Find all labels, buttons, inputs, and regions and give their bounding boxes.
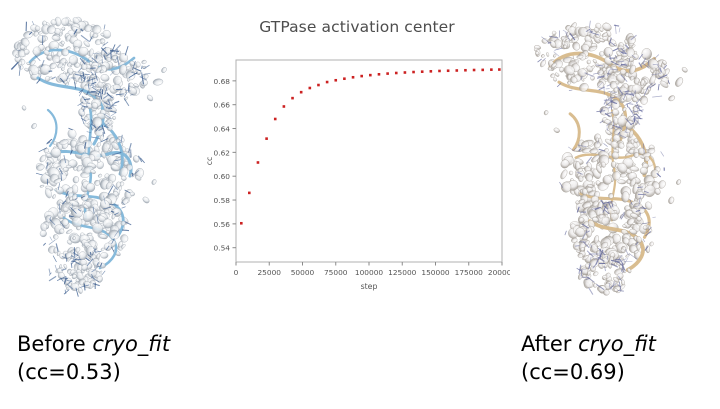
density-blob (62, 27, 66, 31)
density-blob (100, 73, 110, 82)
density-blob (620, 173, 627, 178)
atom-stick (11, 62, 18, 69)
data-point (369, 74, 372, 77)
x-tick-label: 100000 (355, 268, 384, 277)
x-tick-label: 125000 (388, 268, 417, 277)
x-tick-label: 0 (234, 268, 239, 277)
density-blob (59, 229, 64, 234)
data-point (464, 69, 467, 72)
atom-stick (143, 73, 151, 74)
atom-stick (614, 25, 619, 26)
atom-stick (142, 66, 143, 69)
plot-frame (236, 60, 502, 262)
density-blob (587, 60, 591, 64)
density-fragment (146, 94, 154, 102)
atom-stick (625, 258, 629, 264)
atom-stick (603, 143, 607, 147)
y-tick-label: 0.58 (214, 196, 231, 205)
caption-before-prefix: Before (17, 332, 92, 356)
density-blob (63, 264, 67, 269)
structure-group (533, 17, 696, 298)
density-blob (604, 47, 613, 57)
density-blob (582, 276, 595, 289)
x-tick-label: 50000 (291, 268, 315, 277)
data-point (412, 71, 415, 74)
caption-before-program: cryo_fit (92, 332, 170, 356)
atom-stick (97, 55, 98, 58)
density-blob (36, 34, 47, 45)
x-tick-label: 75000 (324, 268, 348, 277)
density-blob (643, 89, 649, 95)
atom-stick (81, 35, 89, 41)
density-fragment (668, 94, 676, 102)
figure-canvas: GTPase activation center 0.540.560.580.6… (0, 0, 720, 409)
atom-stick (619, 28, 620, 33)
density-fragment (674, 76, 685, 88)
density-blob (40, 185, 45, 188)
atom-stick (661, 151, 664, 156)
density-blob (99, 270, 103, 273)
atom-stick (607, 256, 608, 260)
density-blob (552, 31, 557, 36)
data-point (455, 69, 458, 72)
atom-stick (49, 276, 56, 281)
atom-stick (628, 103, 633, 104)
density-fragment (141, 60, 147, 65)
density-blob (33, 47, 41, 57)
data-point (326, 81, 329, 84)
data-point (240, 222, 243, 225)
density-blob (603, 290, 609, 296)
density-fragment (543, 110, 549, 116)
atom-stick (53, 256, 56, 262)
data-point (309, 87, 312, 90)
density-fragment (553, 127, 560, 134)
atom-stick (617, 61, 624, 62)
density-fragment (142, 196, 151, 205)
density-blob (653, 68, 657, 71)
density-blob (97, 173, 102, 178)
y-tick-label: 0.66 (214, 101, 231, 110)
x-tick-label: 175000 (455, 268, 484, 277)
y-axis-label: cc (205, 157, 214, 166)
atom-stick (90, 252, 91, 255)
atom-stick (50, 237, 52, 241)
density-blob (52, 54, 60, 62)
structure-svg-after (512, 4, 720, 324)
atom-stick (613, 48, 619, 51)
data-point (438, 70, 441, 73)
atom-stick (548, 43, 552, 44)
atom-stick (81, 77, 82, 82)
atom-stick (589, 21, 591, 28)
atom-stick (43, 243, 45, 245)
density-blob (88, 48, 94, 57)
atom-stick (580, 242, 586, 243)
density-blob (59, 33, 62, 37)
density-blob (642, 48, 652, 60)
data-point (498, 68, 501, 71)
density-blob (599, 51, 604, 56)
caption-after-program: cryo_fit (578, 332, 656, 356)
density-fragment (151, 179, 157, 186)
density-blob (554, 72, 559, 77)
atom-stick (654, 55, 659, 60)
atom-stick (589, 288, 593, 295)
y-tick-label: 0.60 (214, 172, 231, 181)
atom-stick (74, 247, 75, 257)
data-point (481, 69, 484, 72)
x-tick-label: 150000 (421, 268, 450, 277)
atom-stick (102, 271, 105, 275)
data-point (360, 75, 363, 78)
y-tick-label: 0.62 (214, 148, 230, 157)
y-tick-label: 0.54 (214, 244, 231, 253)
atom-stick (554, 48, 562, 50)
atom-stick (658, 84, 659, 90)
density-blob (130, 192, 135, 196)
density-blob (63, 167, 69, 172)
density-blob (546, 52, 549, 57)
structure-group (11, 16, 167, 296)
structure-render-after (512, 4, 720, 324)
atom-stick (104, 25, 105, 30)
density-blob (23, 30, 34, 39)
data-point (352, 76, 355, 79)
data-point (317, 84, 320, 87)
density-blob (541, 54, 545, 58)
data-point (430, 70, 433, 73)
atom-stick (65, 290, 66, 294)
density-blob (582, 188, 588, 195)
atom-stick (652, 96, 662, 97)
density-fragment (667, 196, 675, 205)
caption-after-prefix: After (521, 332, 578, 356)
data-point (274, 118, 277, 121)
y-tick-label: 0.68 (214, 77, 231, 86)
atom-stick (537, 59, 541, 62)
atom-stick (569, 90, 572, 91)
data-point (378, 73, 381, 76)
density-fragment (21, 105, 26, 111)
data-point (490, 68, 493, 71)
atom-stick (627, 103, 628, 107)
density-blob (71, 235, 81, 243)
atom-stick (110, 204, 119, 205)
density-blob (52, 233, 59, 240)
data-point (265, 137, 268, 140)
atom-stick (643, 239, 645, 242)
density-blob (578, 253, 584, 258)
density-blob (100, 252, 108, 258)
atom-stick (106, 108, 112, 109)
data-point (421, 70, 424, 73)
y-tick-label: 0.56 (214, 220, 231, 229)
atom-stick (55, 265, 57, 270)
density-fragment (675, 179, 681, 186)
density-blob (40, 230, 48, 238)
atom-stick (565, 231, 567, 235)
density-blob (617, 179, 626, 184)
before-cryo-fit-caption: Before cryo_fit (cc=0.53) (17, 330, 170, 386)
density-fragment (681, 66, 688, 73)
atom-stick (85, 74, 90, 75)
density-blob (602, 217, 610, 226)
density-blob (569, 171, 574, 176)
data-point (473, 69, 476, 72)
density-fragment (160, 66, 167, 73)
density-fragment (30, 122, 37, 129)
x-axis-label: step (361, 282, 378, 291)
atom-stick (36, 173, 43, 175)
density-blob (581, 247, 585, 251)
density-blob (52, 194, 57, 199)
scatter-plot: 0.540.560.580.600.620.640.660.6802500050… (204, 8, 510, 304)
data-point (395, 72, 398, 75)
caption-before-value: (cc=0.53) (17, 358, 170, 386)
data-point (283, 105, 286, 108)
atom-stick (32, 21, 34, 25)
caption-after-value: (cc=0.69) (521, 358, 656, 386)
atom-stick (49, 269, 50, 275)
density-blob (72, 217, 82, 227)
atom-stick (122, 207, 126, 209)
atom-stick (84, 284, 85, 291)
structure-render-before (0, 4, 204, 324)
data-point (334, 79, 337, 82)
density-blob (91, 102, 98, 108)
atom-stick (125, 46, 128, 55)
data-point (386, 72, 389, 75)
data-point (447, 69, 450, 72)
data-point (248, 192, 251, 195)
atom-stick (628, 107, 633, 114)
data-point (257, 161, 260, 164)
density-blob (72, 176, 80, 184)
atom-stick (111, 113, 116, 116)
chart-panel: GTPase activation center 0.540.560.580.6… (204, 8, 510, 304)
data-point (291, 97, 294, 100)
density-fragment (153, 78, 164, 86)
data-series-cc (240, 68, 501, 224)
x-tick-label: 200000 (488, 268, 510, 277)
data-point (343, 77, 346, 80)
density-blob (643, 225, 648, 229)
density-blob (649, 241, 655, 247)
density-blob (112, 116, 116, 120)
after-cryo-fit-caption: After cryo_fit (cc=0.69) (521, 330, 656, 386)
density-blob (559, 169, 568, 180)
x-tick-label: 25000 (257, 268, 281, 277)
atom-stick (116, 101, 120, 102)
y-tick-label: 0.64 (214, 124, 231, 133)
ribbon-strand (48, 110, 57, 146)
structure-svg-before (0, 4, 204, 324)
data-point (300, 91, 303, 94)
atom-stick (132, 173, 133, 177)
atom-stick (611, 106, 612, 110)
data-point (404, 71, 407, 74)
atom-stick (559, 31, 560, 38)
